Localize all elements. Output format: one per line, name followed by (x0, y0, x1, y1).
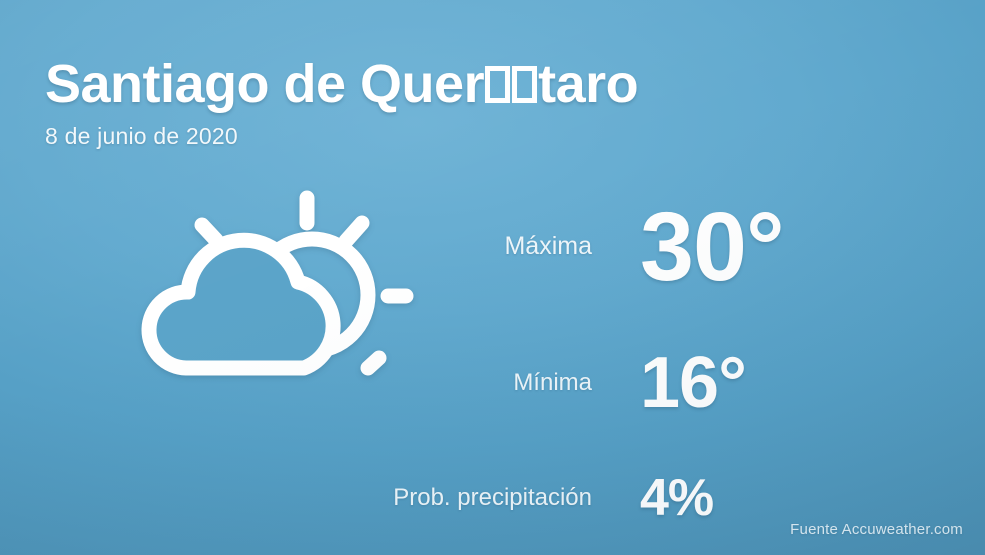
weather-card: Santiago de Quer taro 8 de junio de 2020 (0, 0, 985, 555)
page-title: Santiago de Quer taro (45, 57, 638, 111)
forecast-stats: Máxima 30° Mínima 16° Prob. precipitació… (0, 176, 985, 546)
stat-row-min: Mínima 16° (0, 316, 985, 450)
source-credit: Fuente Accuweather.com (790, 521, 963, 538)
header: Santiago de Quer taro 8 de junio de 2020 (45, 57, 638, 150)
stat-value-min: 16° (640, 347, 746, 419)
missing-glyph-box-1 (485, 66, 510, 103)
stat-value-precipitation: 4% (640, 472, 713, 524)
city-name-prefix: Santiago de Quer (45, 57, 484, 111)
forecast-date: 8 de junio de 2020 (45, 123, 638, 150)
stat-label-min: Mínima (0, 369, 640, 397)
stat-label-max: Máxima (0, 232, 640, 261)
missing-glyph-box-2 (512, 66, 537, 103)
stat-label-precipitation: Prob. precipitación (0, 484, 640, 512)
city-name-suffix: taro (538, 57, 638, 111)
stat-value-max: 30° (640, 198, 784, 295)
stat-row-max: Máxima 30° (0, 176, 985, 316)
